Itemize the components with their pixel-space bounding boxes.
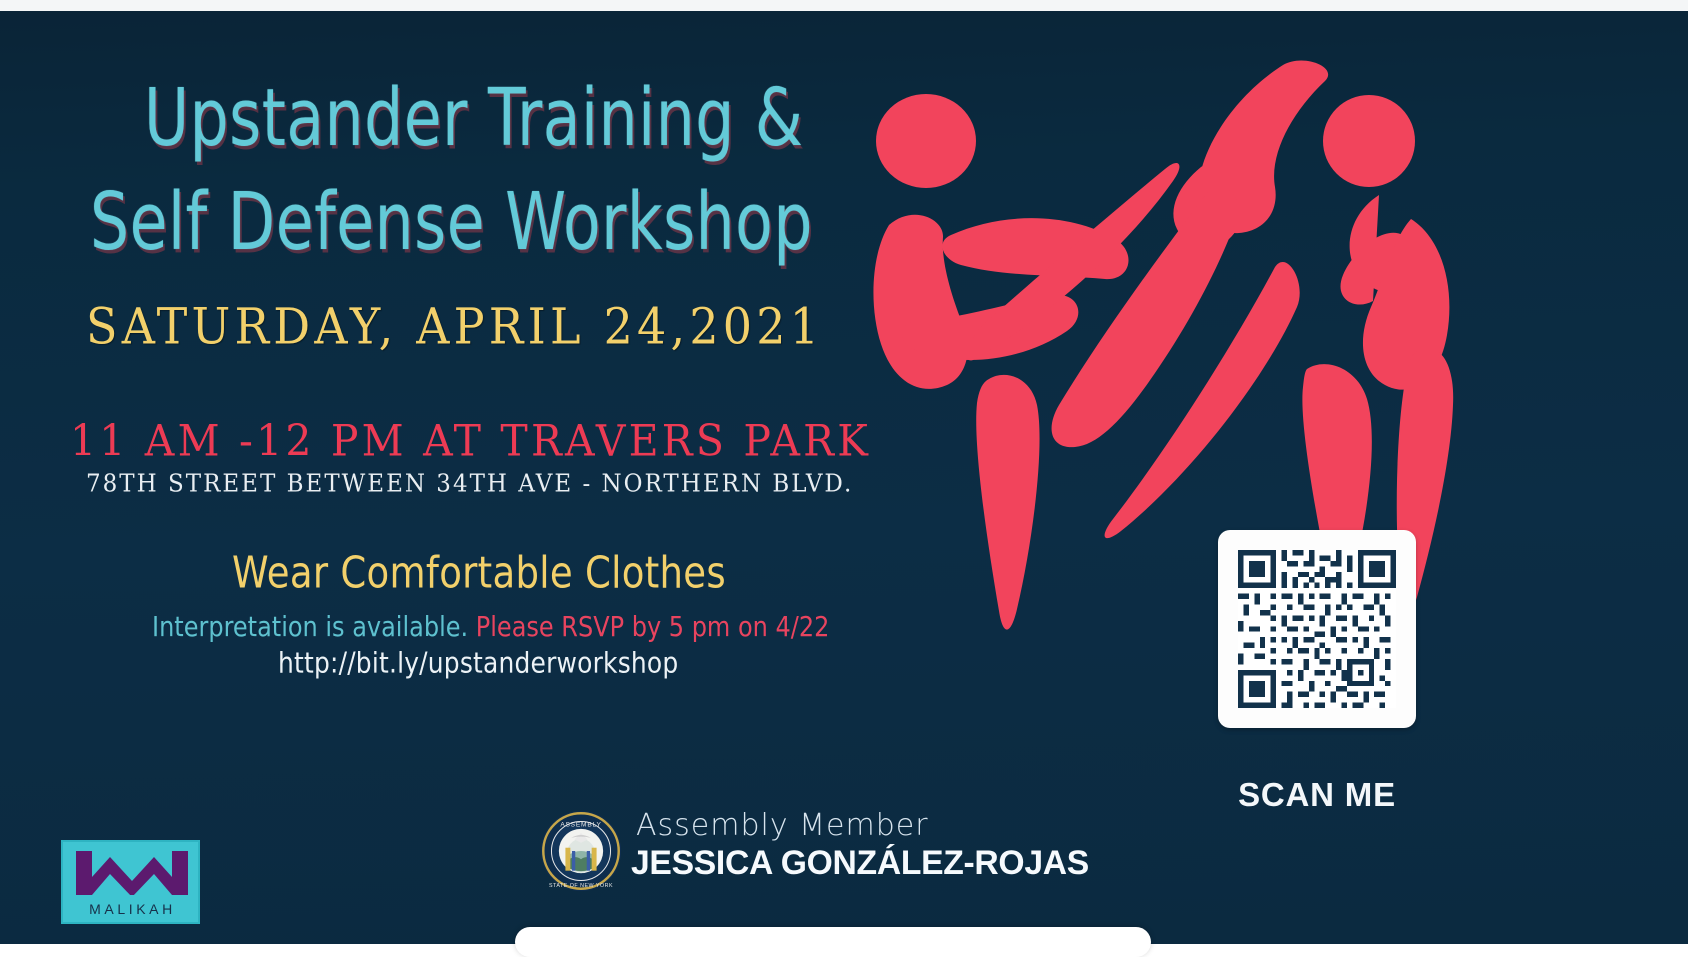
poster-title-line-1: Upstander Training & bbox=[144, 72, 803, 164]
assembly-member-role: Assembly Member bbox=[636, 808, 929, 843]
bottom-floating-bar[interactable] bbox=[515, 927, 1151, 957]
scan-me-caption: SCAN ME bbox=[1218, 776, 1416, 814]
malikah-logo: MALIKAH bbox=[61, 840, 200, 924]
svg-text:ASSEMBLY: ASSEMBLY bbox=[560, 821, 601, 828]
event-date: SATURDAY, APRIL 24,2021 bbox=[86, 297, 823, 355]
qr-code-card[interactable] bbox=[1218, 530, 1416, 728]
rsvp-deadline: Please RSVP by 5 pm on 4/22 bbox=[476, 611, 830, 643]
poster-title-line-2: Self Defense Workshop bbox=[90, 176, 813, 268]
svg-text:STATE OF NEW YORK: STATE OF NEW YORK bbox=[549, 883, 613, 889]
attire-note: Wear Comfortable Clothes bbox=[232, 548, 726, 598]
rsvp-note: Interpretation is available. Please RSVP… bbox=[152, 611, 829, 643]
qr-code-image[interactable] bbox=[1238, 550, 1396, 708]
event-time-and-venue: 11 AM -12 PM AT TRAVERS PARK bbox=[70, 416, 871, 466]
ny-state-assembly-seal-icon: ASSEMBLY STATE OF NEW YORK bbox=[540, 810, 622, 892]
right-figure-head bbox=[1323, 95, 1415, 187]
assembly-member-block: ASSEMBLY STATE OF NEW YORK Assembly Memb… bbox=[540, 801, 1040, 921]
event-address: 78TH STREET BETWEEN 34TH AVE - NORTHERN … bbox=[86, 470, 853, 498]
left-figure-standing-leg bbox=[976, 375, 1039, 630]
event-poster: Upstander Training & Self Defense Worksh… bbox=[0, 11, 1688, 944]
registration-url[interactable]: http://bit.ly/upstanderworkshop bbox=[278, 648, 678, 680]
malikah-w-mark bbox=[72, 847, 193, 895]
interpretation-note: Interpretation is available. bbox=[152, 611, 468, 643]
left-figure-head bbox=[876, 94, 976, 188]
assembly-member-name: JESSICA GONZÁLEZ-ROJAS bbox=[631, 844, 1089, 883]
malikah-wordmark: MALIKAH bbox=[63, 901, 202, 917]
